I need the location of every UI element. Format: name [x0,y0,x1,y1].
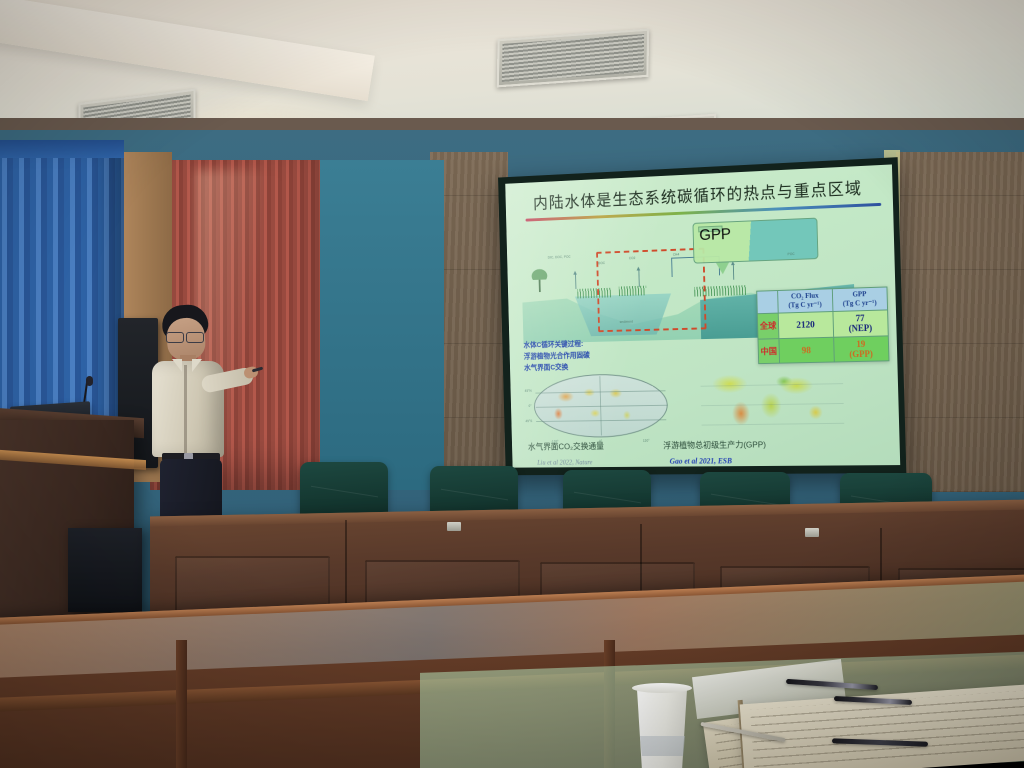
diagram-label-sed: sediment [620,320,633,324]
microphone-icon [86,376,93,386]
diagram-label-dic: DIC, DOC, POC [548,255,571,260]
note-line-2: 浮游植物光合作用固碳 [524,350,590,363]
presenter-trousers [160,459,222,521]
table-row: 全球 2120 77 (NEP) [757,310,888,339]
gpp-world-map [691,361,857,448]
lat-tick-0: 0° [529,404,532,408]
cup-sleeve [639,736,686,756]
diagram-label-poc: POC [788,252,795,256]
callout-tag-label: GPP [698,226,722,233]
shirt-collar-right [192,359,202,372]
teal-wall-panel [312,160,444,490]
floor-subwoofer [68,528,142,612]
shirt-collar-left [172,359,182,372]
desk-name-plate [447,522,461,531]
header-co2-units: (Tg C yr⁻¹) [788,300,822,309]
lon-tick-120: 120° [643,439,650,443]
table-row: 中国 98 19 (GPP) [758,336,889,364]
header-gpp-label: GPP [852,290,866,298]
cell-china-gpp-note: (GPP) [849,349,873,359]
cell-global-gpp-note: (NEP) [849,323,873,334]
shirt-placket [184,365,187,453]
flux-data-table: CO₂ Flux (Tg C yr⁻¹) GPP (Tg C yr⁻¹) 全球 … [756,286,889,364]
diagram-label-co2: CO2 [629,256,636,260]
header-gpp-units: (Tg C yr⁻¹) [843,299,877,308]
table-header-co2: CO₂ Flux (Tg C yr⁻¹) [778,289,833,313]
stone-wall-panel [896,152,1024,492]
flux-arrow-icon [733,264,734,280]
presentation-slide: 内陆水体是生态系统碳循环的热点与重点区域 GPP DIC, DOC, POC D… [505,164,900,467]
cell-china-gpp: 19 (GPP) [833,336,889,363]
row-label-global: 全球 [757,313,779,339]
cell-china-co2: 98 [779,337,834,364]
flux-arrow-icon [575,274,576,289]
desk-leg [176,640,187,768]
citation-main: Gao et al 2021, ESB [512,455,900,467]
table-corner-cell [757,291,778,314]
map-caption-right: 浮游植物总初级生产力(GPP) [663,439,766,452]
cell-global-gpp: 77 (NEP) [832,310,888,337]
tree-icon [529,265,551,292]
glasses-icon [166,332,206,341]
lat-tick-45n: 45°N [525,389,532,393]
diagram-label-ch4: CH4 [673,253,680,257]
presenter [140,305,260,520]
map-caption-left: 水气界面CO₂交换通量 [528,440,604,452]
slide-title: 内陆水体是生态系统碳循环的热点与重点区域 [505,173,892,214]
lat-tick-45s: 45°S [525,419,532,423]
callout-pointer [716,262,729,274]
cell-global-gpp-value: 77 [856,313,865,323]
desk-name-plate [805,528,819,537]
projection-screen: 内陆水体是生态系统碳循环的热点与重点区域 GPP DIC, DOC, POC D… [498,157,906,475]
header-co2-label: CO₂ Flux [791,292,819,301]
table-header-gpp: GPP (Tg C yr⁻¹) [832,287,888,312]
co2-flux-world-map: 45°N 0° 45°S -120° 0° 120° [526,365,676,450]
diagram-label-doc: DOC [598,261,605,265]
red-dashed-highlight-box [596,248,706,333]
cell-china-gpp-value: 19 [856,339,865,349]
world-map-panels: 45°N 0° 45°S -120° 0° 120° [522,361,858,450]
row-label-china: 中国 [758,338,780,364]
inset-callout-box: GPP [692,218,818,264]
cup-rim [632,683,692,693]
conference-room-photo: 内陆水体是生态系统碳循环的热点与重点区域 GPP DIC, DOC, POC D… [0,0,1024,768]
curtain-rail [0,140,124,158]
cell-global-co2: 2120 [778,312,833,339]
